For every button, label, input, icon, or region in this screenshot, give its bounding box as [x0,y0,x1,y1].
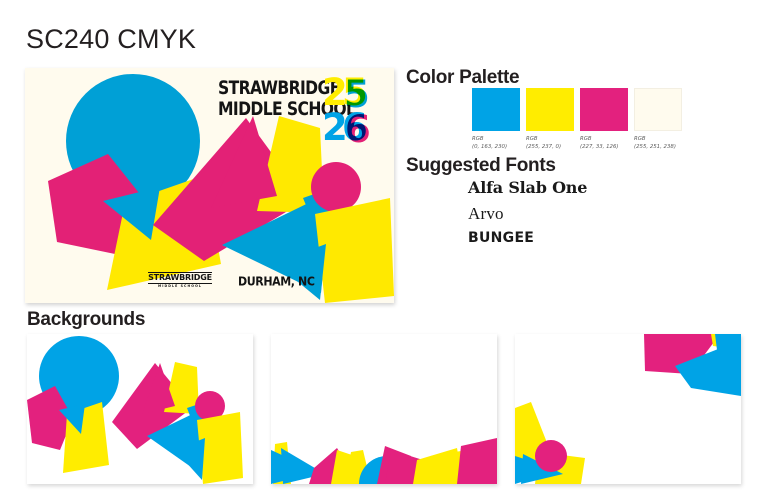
swatch-rgb-values-cream: (255, 251, 238) [634,144,682,152]
swatch-cyan[interactable]: RGB (0, 163, 230) [472,88,520,152]
poster-year-art: 2 5 5 2 6 6 [322,74,394,144]
swatch-chip-cream[interactable] [634,88,682,131]
poster-logo-subtext: MIDDLE SCHOOL [148,285,212,288]
swatch-rgb-values-yellow: (255, 237, 0) [526,144,574,152]
swatch-magenta[interactable]: RGB (227, 33, 126) [580,88,628,152]
suggested-fonts-list: Alfa Slab One Arvo BUNGEE [468,180,587,245]
color-palette-heading: Color Palette [406,68,519,87]
swatch-rgb-word-yellow: RGB [526,136,574,144]
background-panel-2[interactable] [271,334,497,484]
poster-preview[interactable]: .c { fill:#00a3e6; } .m { fill:#e3217e; … [25,68,394,303]
swatch-chip-yellow[interactable] [526,88,574,131]
background-art-1 [27,334,253,484]
poster-year: 2 5 5 2 6 6 25 26 [322,74,394,144]
swatch-rgb-word-cream: RGB [634,136,682,144]
swatch-rgb-word-cyan: RGB [472,136,520,144]
backgrounds-heading: Backgrounds [27,310,145,329]
font-sample-alfa-slab-one: Alfa Slab One [468,180,587,196]
svg-text:6: 6 [345,108,369,144]
background-art-3 [515,334,741,484]
font-sample-bungee: BUNGEE [468,231,587,245]
page-title: SC240 CMYK [26,26,196,53]
swatch-cream[interactable]: RGB (255, 251, 238) [634,88,682,152]
poster-city: DURHAM, NC [238,274,315,289]
swatch-chip-magenta[interactable] [580,88,628,131]
swatch-yellow[interactable]: RGB (255, 237, 0) [526,88,574,152]
swatch-chip-cyan[interactable] [472,88,520,131]
poster-logo-text: STRAWBRIDGE [148,273,212,282]
font-sample-arvo: Arvo [468,205,587,222]
swatch-label-magenta: RGB (227, 33, 126) [580,136,628,152]
suggested-fonts-heading: Suggested Fonts [406,156,556,175]
background-panel-1[interactable] [27,334,253,484]
background-panel-3[interactable] [515,334,741,484]
swatch-rgb-word-magenta: RGB [580,136,628,144]
swatch-rgb-values-cyan: (0, 163, 230) [472,144,520,152]
background-art-2 [271,334,497,484]
swatch-label-cyan: RGB (0, 163, 230) [472,136,520,152]
swatch-label-yellow: RGB (255, 237, 0) [526,136,574,152]
poster-logo: STRAWBRIDGE MIDDLE SCHOOL [148,271,212,289]
swatch-rgb-values-magenta: (227, 33, 126) [580,144,628,152]
swatch-label-cream: RGB (255, 251, 238) [634,136,682,152]
